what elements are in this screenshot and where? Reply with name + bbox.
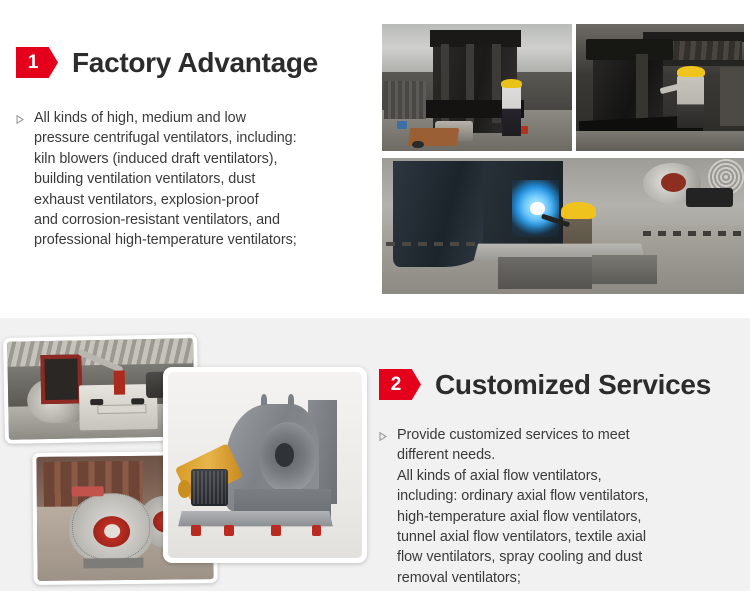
section-2-text-block: 2 Customized Services Provide customized…	[379, 369, 739, 588]
red-framed-hopper	[41, 354, 83, 404]
section-1-text-block: 1 Factory Advantage All kinds of high, m…	[16, 47, 366, 251]
section-2-body-text: Provide customized services to meet diff…	[397, 425, 648, 588]
red-can	[521, 126, 529, 135]
radial-drill-machining-photo	[576, 24, 744, 151]
lifting-lug-right	[288, 394, 294, 405]
product-feature-page: 1 Factory Advantage All kinds of high, m…	[0, 0, 750, 609]
dark-equipment	[686, 188, 733, 207]
fan-inlet-port	[661, 173, 686, 192]
nameplate	[98, 404, 147, 415]
vibration-mount-4	[312, 525, 322, 536]
worker-figure	[502, 85, 521, 136]
shop-floor	[576, 131, 744, 151]
section-1-number-badge: 1	[16, 47, 58, 78]
page-footer-strip	[0, 591, 750, 609]
section-1-title: Factory Advantage	[72, 49, 318, 77]
blower-product-scene	[168, 372, 362, 558]
section-1-body-text: All kinds of high, medium and low pressu…	[34, 108, 297, 251]
section-2-heading-row: 2 Customized Services	[379, 369, 739, 400]
blue-bucket	[397, 121, 407, 130]
work-table-base-right	[592, 255, 657, 285]
front-fan-base	[83, 557, 143, 568]
front-fan-outlet-flange	[72, 486, 104, 496]
blower-shaft-hub	[275, 443, 294, 467]
section-1-body-row: All kinds of high, medium and low pressu…	[16, 108, 366, 251]
press-scene	[382, 24, 572, 151]
drill-scene	[576, 24, 744, 151]
floor-cables-right	[643, 231, 744, 235]
side-cabinet	[720, 67, 744, 125]
welding-scene	[382, 158, 744, 294]
access-port-left	[90, 399, 103, 405]
section-1-heading-row: 1 Factory Advantage	[16, 47, 366, 78]
lower-shelf	[650, 60, 744, 66]
stacked-parts	[384, 81, 426, 119]
vibration-mount-1	[191, 525, 201, 536]
steel-base-frame	[178, 511, 333, 526]
section-2-title: Customized Services	[435, 371, 711, 399]
belt-driven-blower-product-photo	[163, 367, 367, 563]
yellow-hard-hat-icon	[561, 202, 595, 220]
yellow-hard-hat-icon	[501, 79, 522, 88]
motor-cooling-fins	[193, 471, 226, 504]
vibration-mount-3	[271, 525, 281, 536]
work-table-base	[498, 257, 592, 288]
drill-head	[586, 39, 673, 59]
yellow-hard-hat-icon	[677, 66, 706, 77]
section-2-number-badge: 2	[379, 369, 421, 400]
front-fan-impeller	[104, 524, 120, 538]
lifting-lug-left	[261, 394, 267, 405]
access-port-right	[131, 398, 144, 404]
floor-cables-left	[386, 242, 480, 246]
triangle-right-bullet-icon	[379, 432, 388, 441]
red-upright	[114, 371, 126, 395]
vibration-mount-2	[224, 525, 234, 536]
drill-column	[636, 54, 648, 123]
welding-fan-casing-photo	[382, 158, 744, 294]
section-2-body-row: Provide customized services to meet diff…	[379, 425, 739, 588]
triangle-right-bullet-icon	[16, 115, 25, 124]
hydraulic-press-workshop-photo	[382, 24, 572, 151]
